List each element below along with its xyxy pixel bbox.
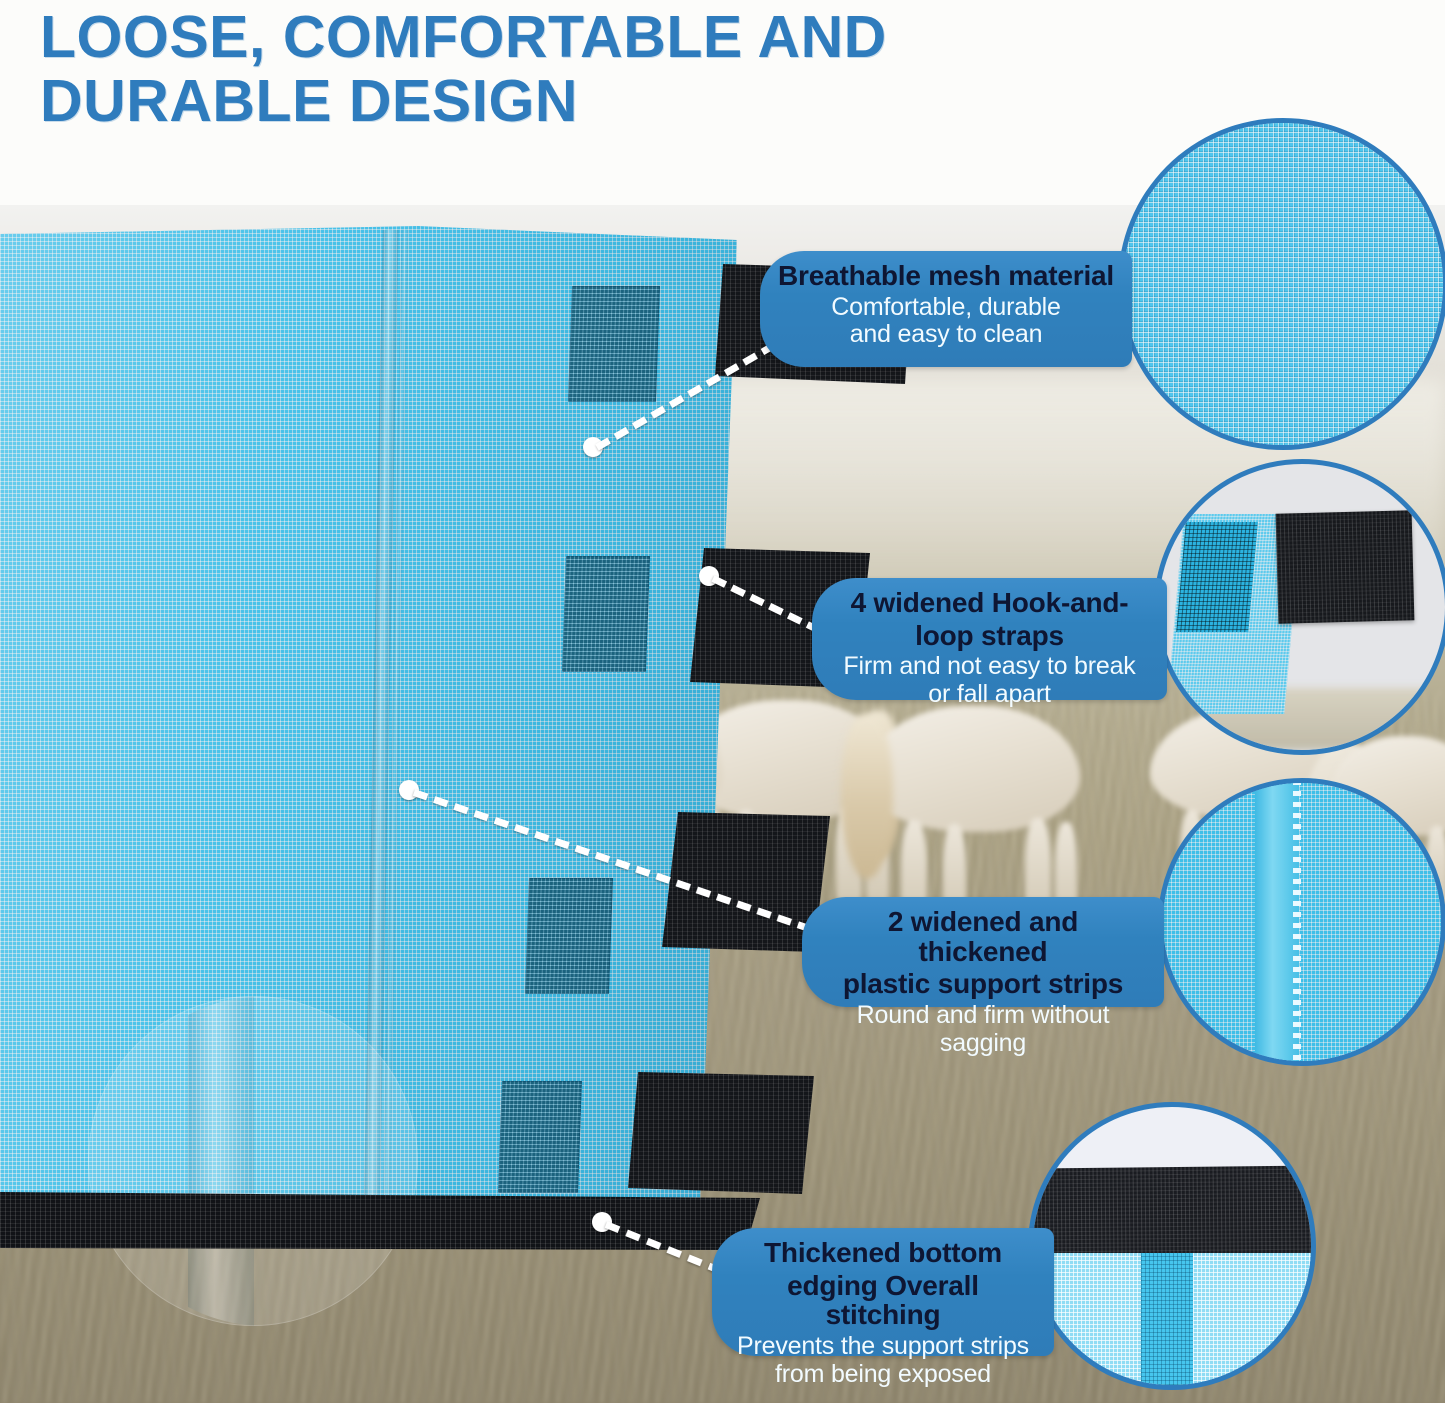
callout-4-title-line1: Thickened bottom — [730, 1238, 1036, 1268]
strap-patch-1 — [568, 286, 660, 402]
panel-support-strip-highlight — [188, 996, 254, 1326]
strap-patch-2 — [562, 556, 650, 672]
closeup-bottom-support-strip — [1141, 1253, 1193, 1390]
callout-2-title-line2: loop straps — [830, 621, 1149, 651]
closeup-mesh-dark-patch — [1176, 522, 1258, 632]
callout-2-subtitle-line1: Firm and not easy to break — [830, 653, 1149, 681]
callout-1-subtitle-line2: and easy to clean — [778, 321, 1114, 349]
callout-4-subtitle-line2: from being exposed — [730, 1361, 1036, 1389]
hook-loop-strap-4 — [628, 1072, 814, 1194]
hook-loop-closeup-image — [1159, 464, 1445, 750]
callout-3-subtitle-line1: Round and firm without sagging — [820, 1002, 1146, 1057]
support-strip-closeup-image — [1163, 783, 1441, 1061]
page-title-line-2: DURABLE DESIGN — [40, 70, 1290, 134]
callout-1-title: Breathable mesh material — [778, 261, 1114, 291]
bottom-edging-closeup-image — [1033, 1107, 1311, 1385]
closeup-black-webbing — [1033, 1165, 1316, 1256]
callout-plastic-support-strips: 2 widened and thickened plastic support … — [802, 897, 1164, 1007]
infographic-canvas: Breathable mesh material Comfortable, du… — [0, 0, 1445, 1403]
callout-3-title-line1: 2 widened and thickened — [820, 907, 1146, 966]
strap-patch-4 — [498, 1081, 582, 1193]
mesh-closeup-circle — [1118, 118, 1445, 450]
closeup-velcro-strap — [1276, 510, 1415, 624]
callout-breathable-mesh: Breathable mesh material Comfortable, du… — [760, 251, 1132, 367]
callout-thickened-bottom-edging: Thickened bottom edging Overall stitchin… — [712, 1228, 1054, 1356]
mesh-closeup-image — [1123, 123, 1443, 445]
bottom-edging-closeup-circle — [1028, 1102, 1316, 1390]
callout-hook-loop-straps: 4 widened Hook-and- loop straps Firm and… — [812, 578, 1167, 700]
support-strip-closeup-circle — [1158, 778, 1445, 1066]
hook-loop-closeup-circle — [1154, 459, 1445, 755]
callout-4-subtitle-line1: Prevents the support strips — [730, 1333, 1036, 1361]
callout-1-subtitle-line1: Comfortable, durable — [778, 294, 1114, 322]
callout-2-subtitle-line2: or fall apart — [830, 681, 1149, 709]
page-title-line-1: LOOSE, COMFORTABLE AND — [40, 6, 1290, 70]
strap-patch-3 — [525, 878, 613, 994]
callout-4-title-line2: edging Overall stitching — [730, 1271, 1036, 1330]
product-mesh-panel — [0, 226, 737, 1226]
callout-3-title-line2: plastic support strips — [820, 969, 1146, 999]
closeup-stitch-line — [1293, 783, 1301, 1066]
callout-2-title-line1: 4 widened Hook-and- — [830, 588, 1149, 618]
page-title: LOOSE, COMFORTABLE AND DURABLE DESIGN — [40, 6, 1290, 133]
